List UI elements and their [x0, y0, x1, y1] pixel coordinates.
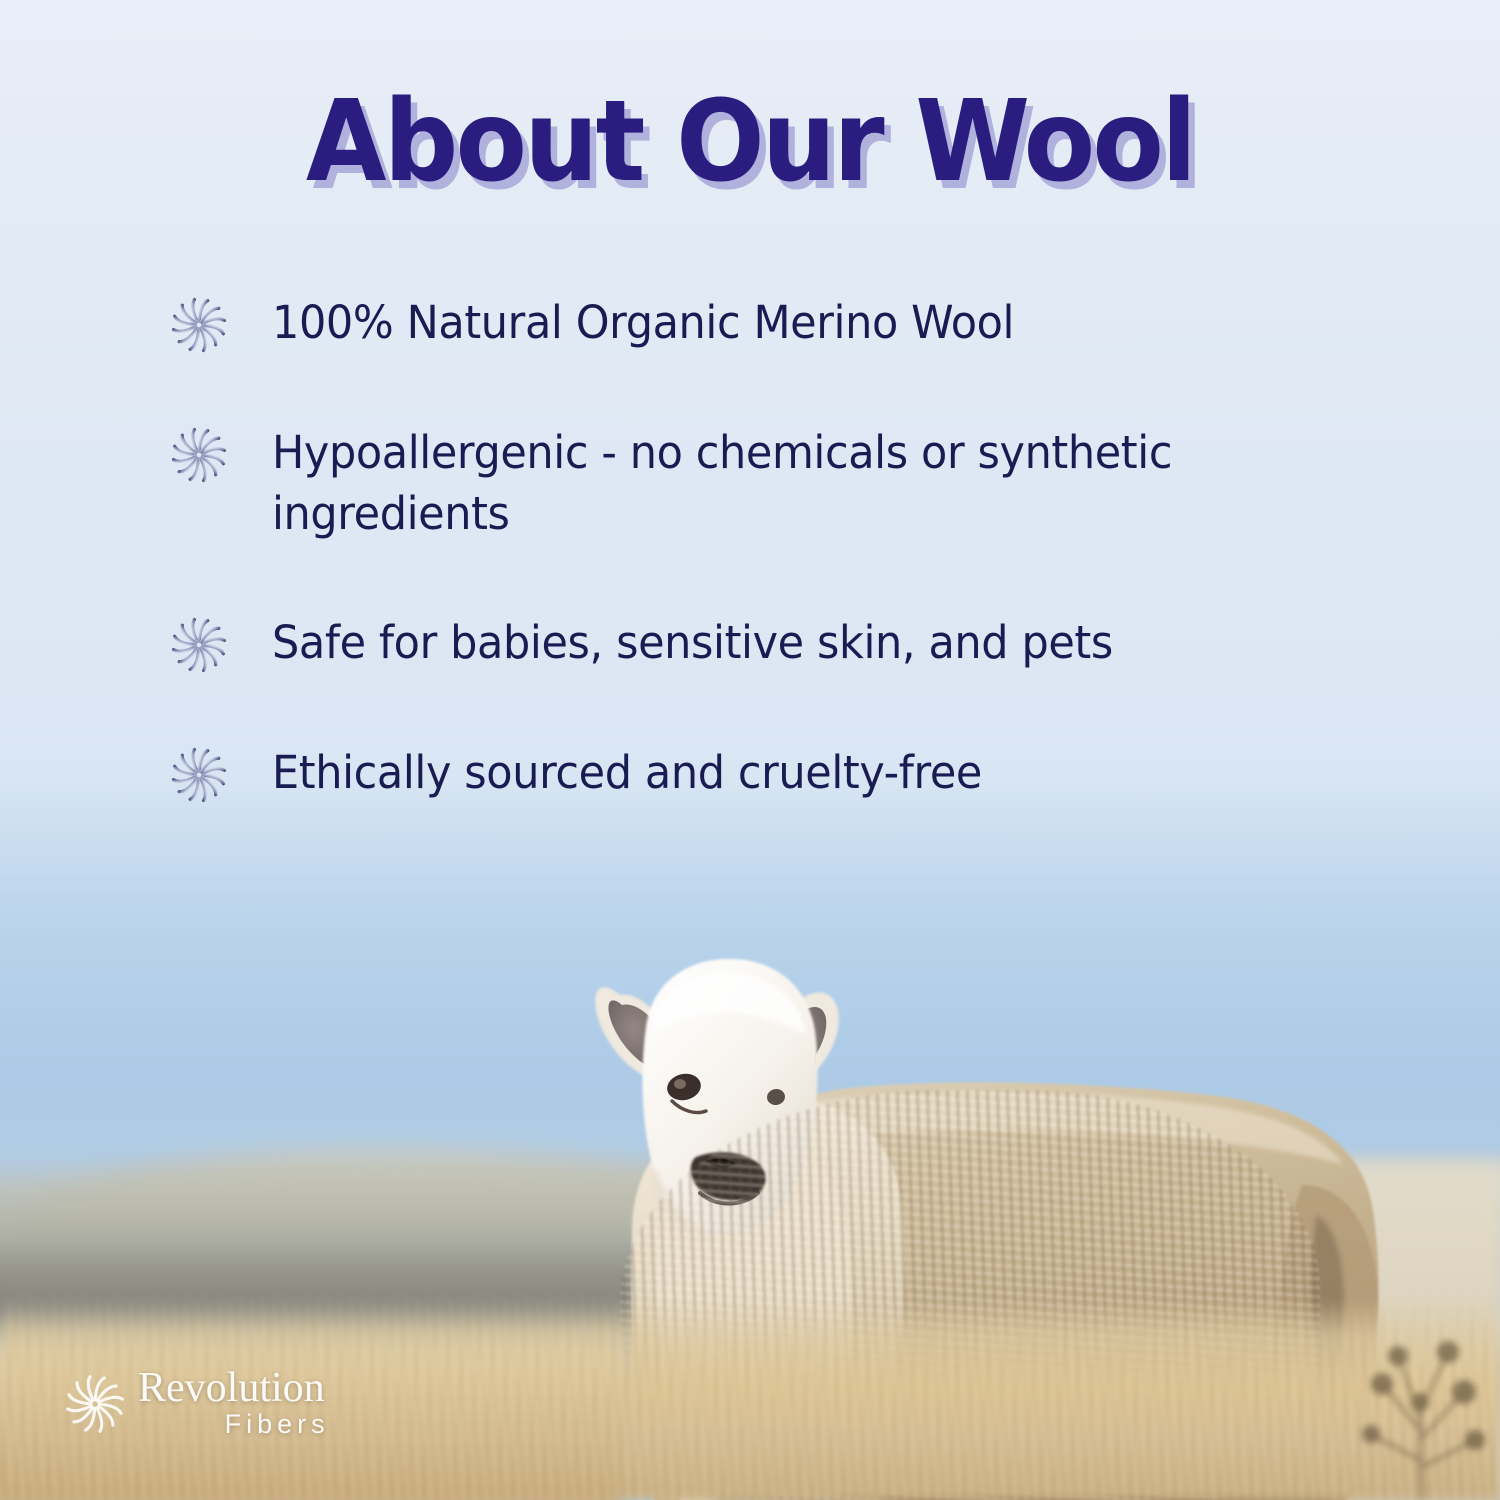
- fiber-spiral-icon: [64, 1373, 126, 1435]
- fiber-spiral-icon: [170, 296, 228, 354]
- logo-name: Revolution: [138, 1368, 325, 1409]
- fiber-spiral-icon: [170, 616, 228, 674]
- fiber-spiral-icon: [170, 746, 228, 804]
- brand-logo: Revolution Fibers: [64, 1368, 325, 1440]
- feature-list: 100% Natural Organic Merino Wool: [170, 292, 1330, 804]
- list-item-label: Ethically sourced and cruelty-free: [272, 742, 982, 803]
- wool-infographic-poster: About Our Wool: [0, 0, 1500, 1500]
- list-item: 100% Natural Organic Merino Wool: [170, 292, 1330, 354]
- list-item: Ethically sourced and cruelty-free: [170, 742, 1330, 804]
- list-item: Safe for babies, sensitive skin, and pet…: [170, 612, 1330, 674]
- page-title: About Our Wool: [53, 86, 1448, 198]
- list-item-label: Safe for babies, sensitive skin, and pet…: [272, 612, 1113, 673]
- logo-wordmark: Revolution Fibers: [138, 1368, 325, 1440]
- list-item-label: Hypoallergenic - no chemicals or synthet…: [272, 422, 1282, 544]
- list-item-label: 100% Natural Organic Merino Wool: [272, 292, 1014, 353]
- fiber-spiral-icon: [170, 426, 228, 484]
- logo-subtitle: Fibers: [225, 1409, 330, 1440]
- thistle-plant: [1330, 1290, 1500, 1500]
- list-item: Hypoallergenic - no chemicals or synthet…: [170, 422, 1330, 544]
